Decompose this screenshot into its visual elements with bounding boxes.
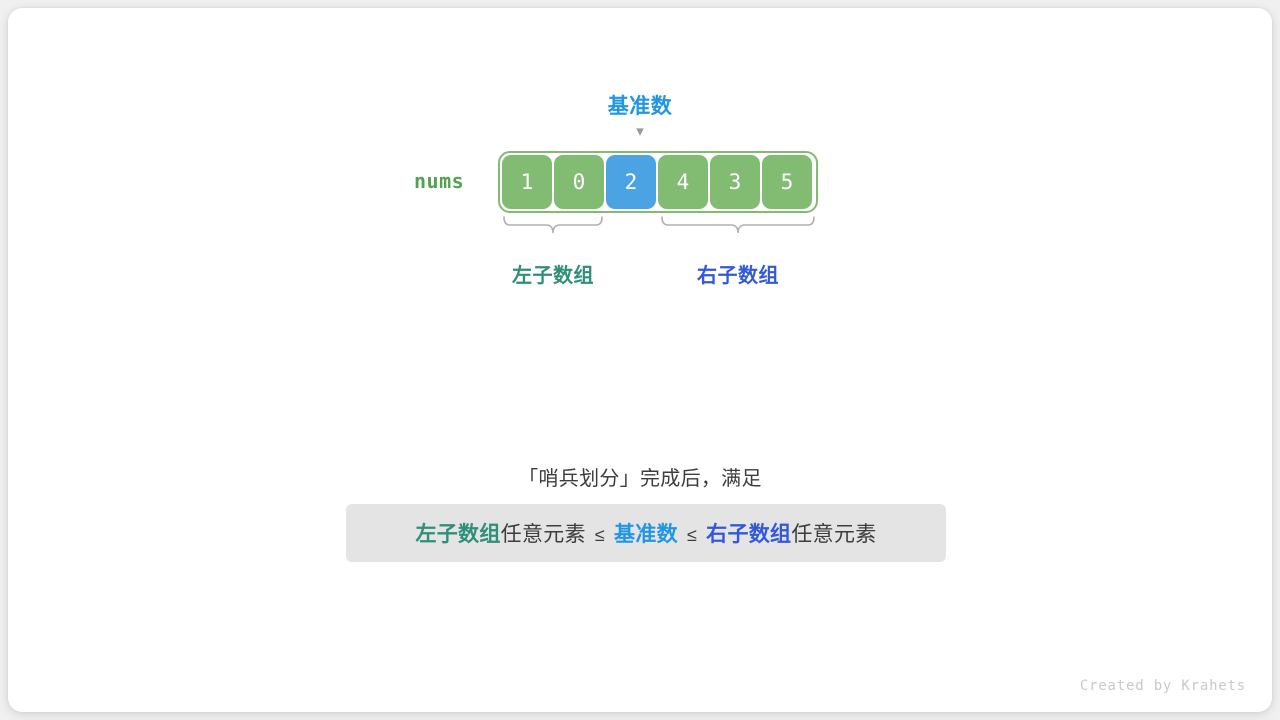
array-cell: 5 <box>762 155 812 209</box>
pivot-title: 基准数 <box>8 90 1272 120</box>
formula-operator-2: ≤ <box>678 525 706 545</box>
formula-operator-1: ≤ <box>586 525 614 545</box>
diagram-card: 基准数 ▾ nums 1 0 2 4 3 5 左子数组 右子数组 「哨兵划分」完… <box>8 8 1272 712</box>
left-subarray-label: 左子数组 <box>502 259 604 288</box>
formula-right-term: 右子数组 <box>706 523 791 546</box>
array-cell: 3 <box>710 155 760 209</box>
chevron-down-icon: ▾ <box>8 124 1272 138</box>
array-cell: 0 <box>554 155 604 209</box>
formula-pivot-term: 基准数 <box>614 523 678 546</box>
array-cell: 1 <box>502 155 552 209</box>
caption-text: 「哨兵划分」完成后，满足 <box>8 462 1272 491</box>
formula-right-suffix: 任意元素 <box>791 523 876 546</box>
array-cells: 1 0 2 4 3 5 <box>502 155 812 209</box>
array-cell: 4 <box>658 155 708 209</box>
left-subarray-brace-icon <box>502 215 604 235</box>
formula-box: 左子数组任意元素≤基准数≤右子数组任意元素 <box>346 504 946 562</box>
credit-text: Created by Krahets <box>1080 678 1246 694</box>
formula-left-term: 左子数组 <box>415 523 500 546</box>
right-subarray-brace-icon <box>660 215 816 235</box>
right-subarray-label: 右子数组 <box>660 259 816 288</box>
formula-left-suffix: 任意元素 <box>501 523 586 546</box>
array-cell-pivot: 2 <box>606 155 656 209</box>
formula-text: 左子数组任意元素≤基准数≤右子数组任意元素 <box>415 518 876 548</box>
array-name-label: nums <box>414 169 464 193</box>
